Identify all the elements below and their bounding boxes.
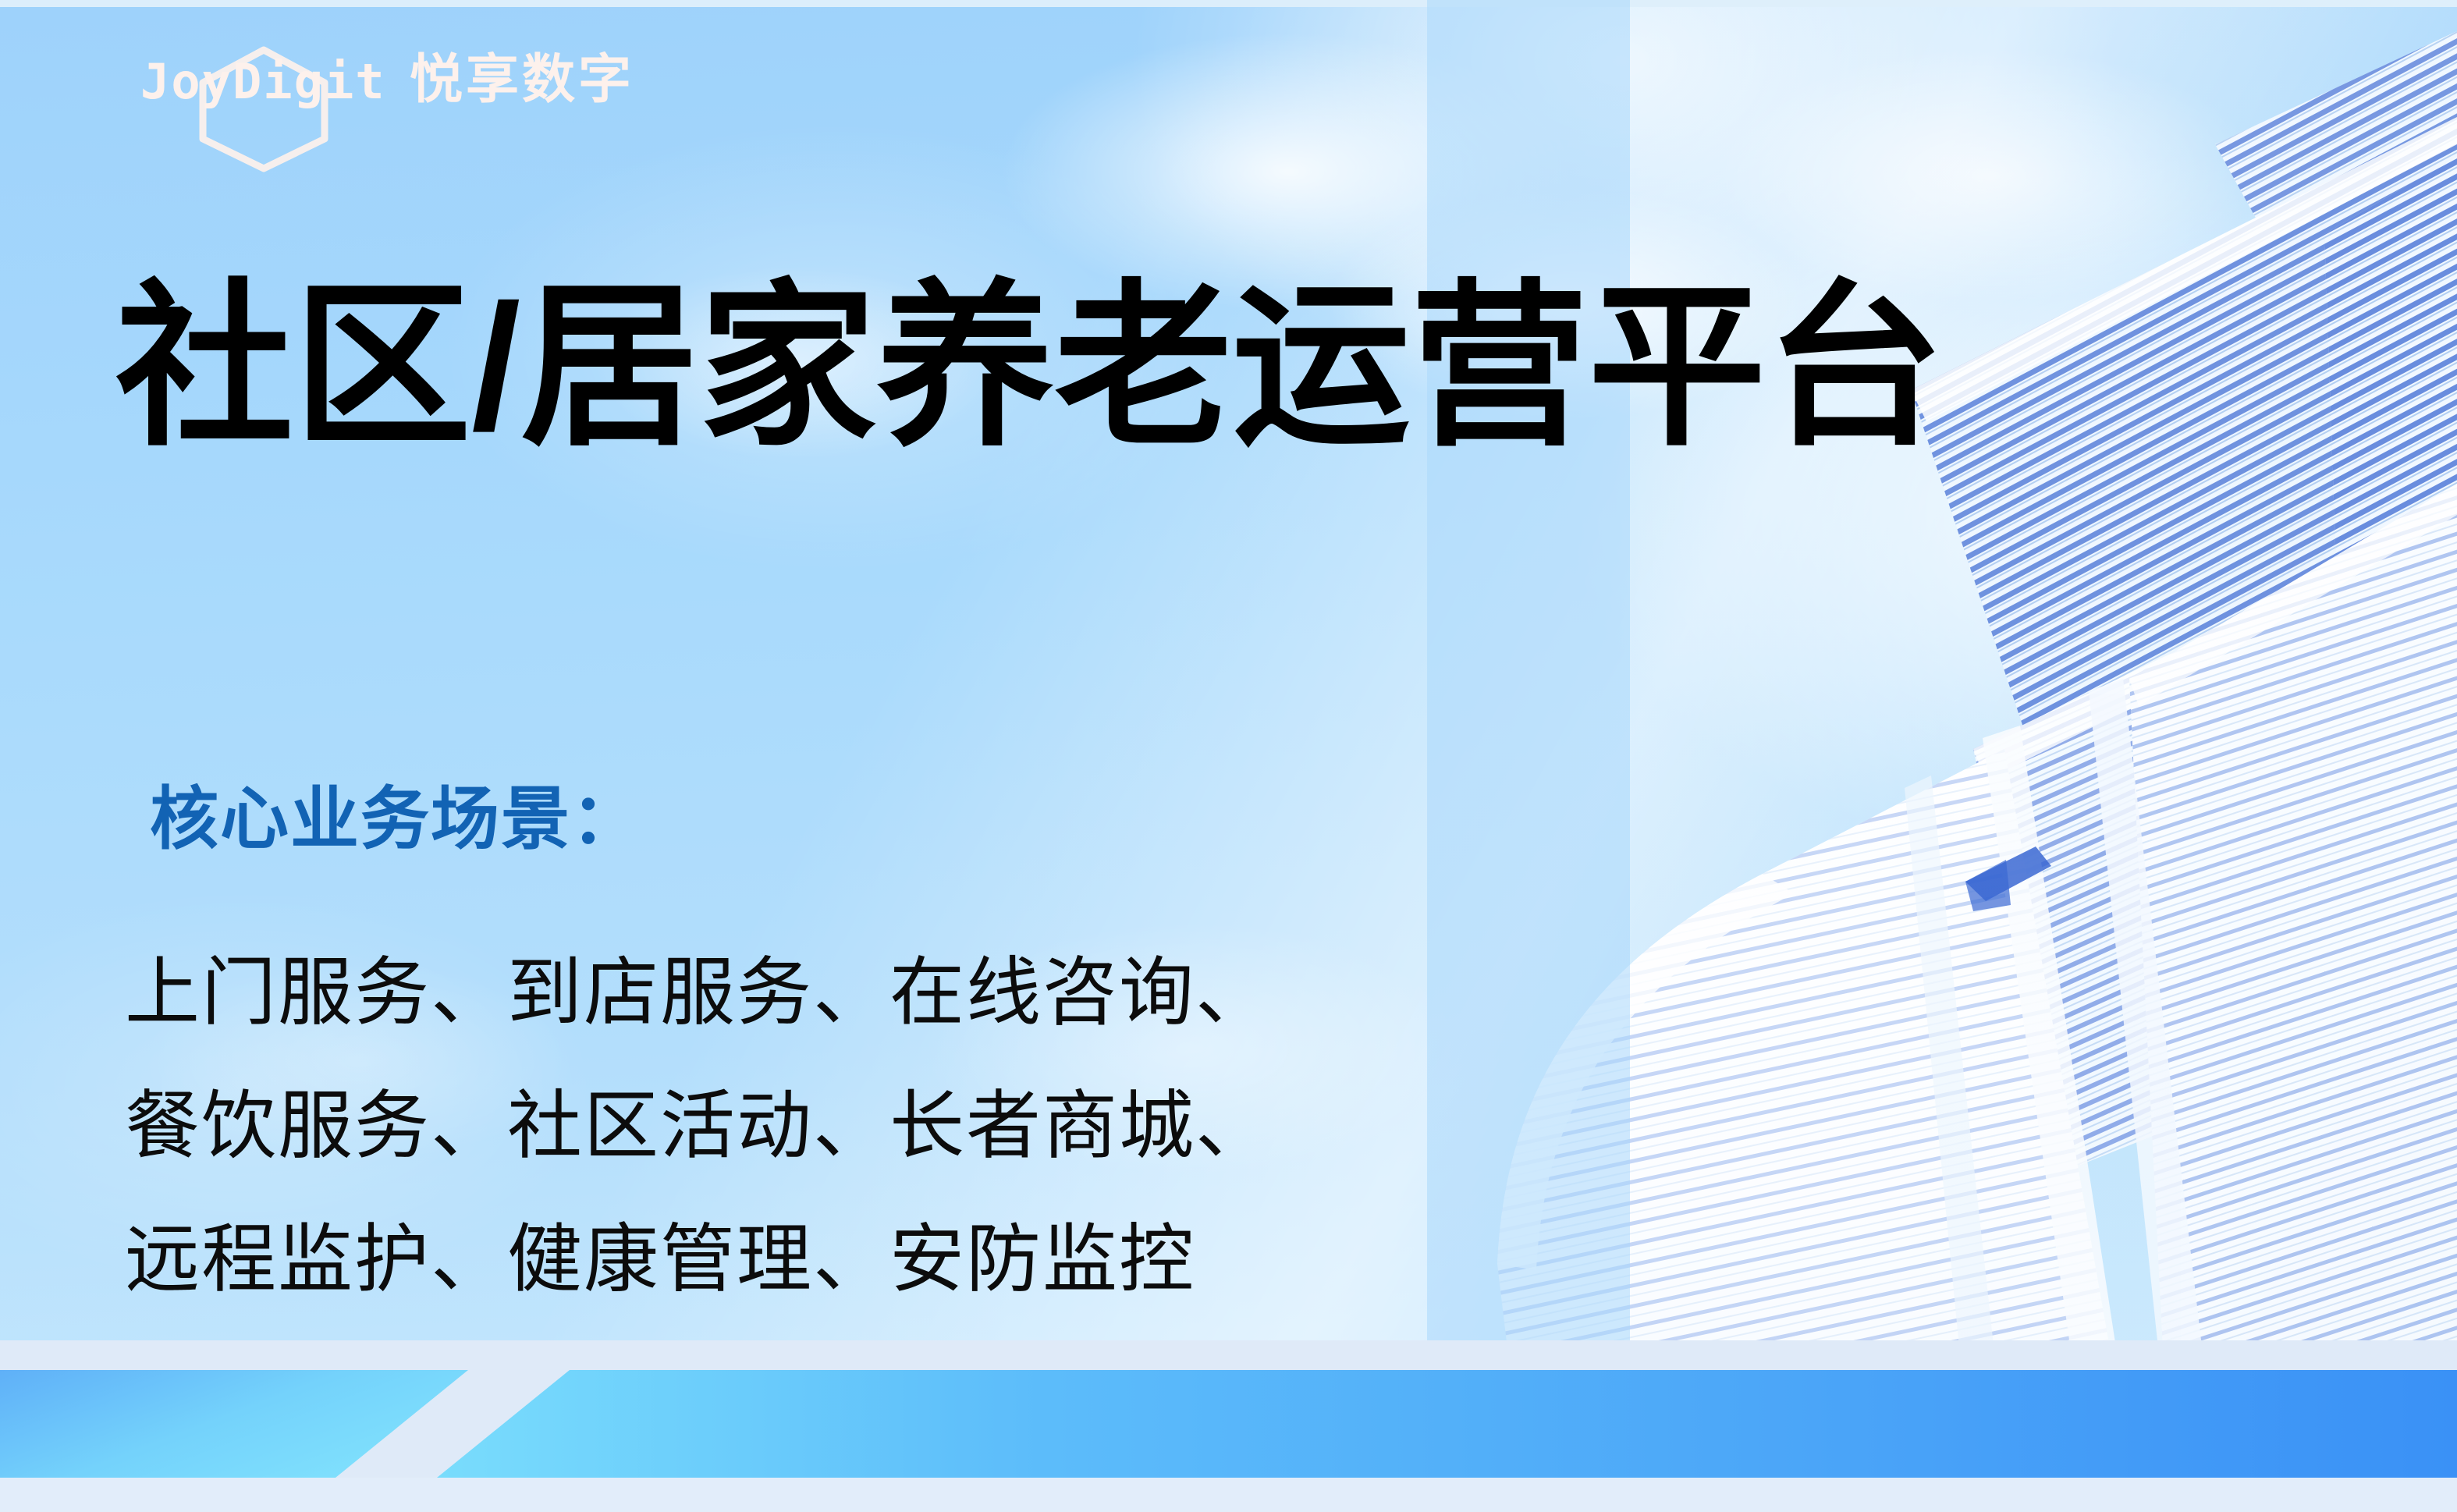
scenario-list: 上门服务、到店服务、在线咨询、 餐饮服务、社区活动、长者商城、 远程监护、健康管… bbox=[125, 927, 1272, 1327]
logo-chinese-name: 悦享数字 bbox=[410, 53, 634, 106]
bottom-decorative-band bbox=[0, 1340, 2457, 1512]
section-heading: 核心业务场景： bbox=[150, 785, 641, 854]
page-title: 社区/居家养老运营平台 bbox=[115, 275, 1944, 461]
brand-logo: JoyDigit 悦享数字 bbox=[140, 39, 687, 133]
presentation-slide: JoyDigit 悦享数字 社区/居家养老运营平台 核心业务场景： 上门服务、到… bbox=[0, 0, 2457, 1512]
scenario-line: 上门服务、到店服务、在线咨询、 bbox=[125, 927, 1272, 1060]
scenario-line: 远程监护、健康管理、安防监控 bbox=[125, 1194, 1272, 1327]
logo-wordmark: JoyDigit bbox=[140, 58, 386, 106]
top-edge-strip bbox=[0, 0, 2457, 7]
scenario-line: 餐饮服务、社区活动、长者商城、 bbox=[125, 1060, 1272, 1194]
